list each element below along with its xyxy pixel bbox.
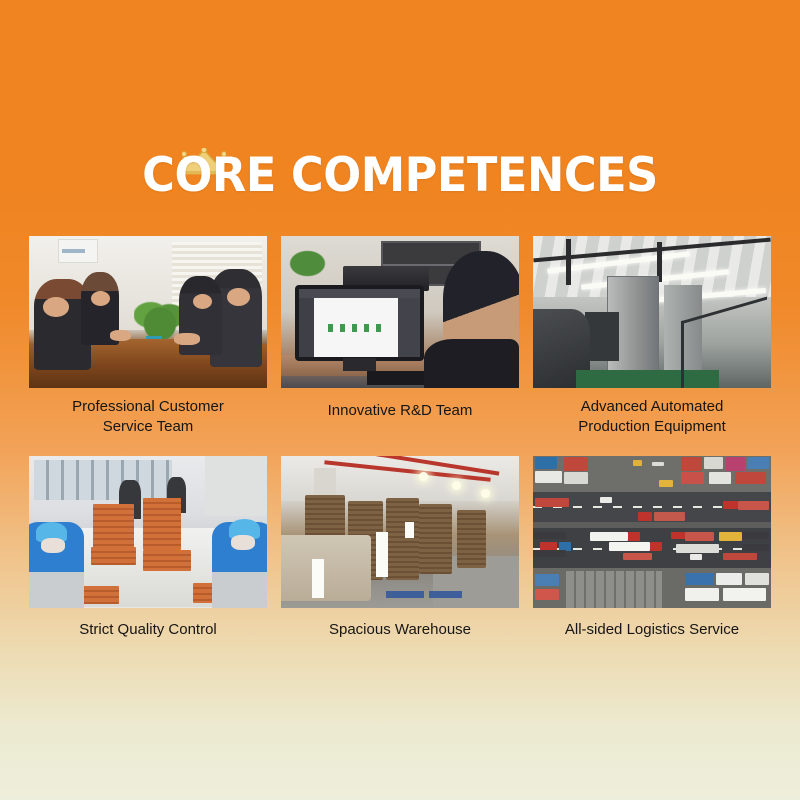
card-advanced-automated-production-equipment[interactable]: Advanced Automated Production Equipment (533, 236, 771, 450)
card-caption: Professional Customer Service Team (29, 388, 267, 450)
card-caption: Advanced Automated Production Equipment (533, 388, 771, 450)
printing-press-machinery-photo (533, 236, 771, 388)
card-professional-customer-service-team[interactable]: Professional Customer Service Team (29, 236, 267, 450)
card-caption: Innovative R&D Team (281, 388, 519, 437)
warehouse-stacked-pallets-photo (281, 456, 519, 608)
card-spacious-warehouse[interactable]: Spacious Warehouse (281, 450, 519, 657)
card-caption: All-sided Logistics Service (533, 608, 771, 657)
header: CORE COMPETENCES (0, 0, 800, 199)
meeting-room-photo (29, 236, 267, 388)
competences-grid: Professional Customer Service Team Innov… (29, 236, 771, 657)
workers-inspecting-boxes-photo (29, 456, 267, 608)
aerial-container-port-photo (533, 456, 771, 608)
card-caption: Strict Quality Control (29, 608, 267, 657)
card-all-sided-logistics-service[interactable]: All-sided Logistics Service (533, 450, 771, 657)
card-strict-quality-control[interactable]: Strict Quality Control (29, 450, 267, 657)
designer-at-computer-photo (281, 236, 519, 388)
card-innovative-rd-team[interactable]: Innovative R&D Team (281, 236, 519, 450)
card-caption: Spacious Warehouse (281, 608, 519, 657)
page-title: CORE COMPETENCES (20, 152, 780, 199)
